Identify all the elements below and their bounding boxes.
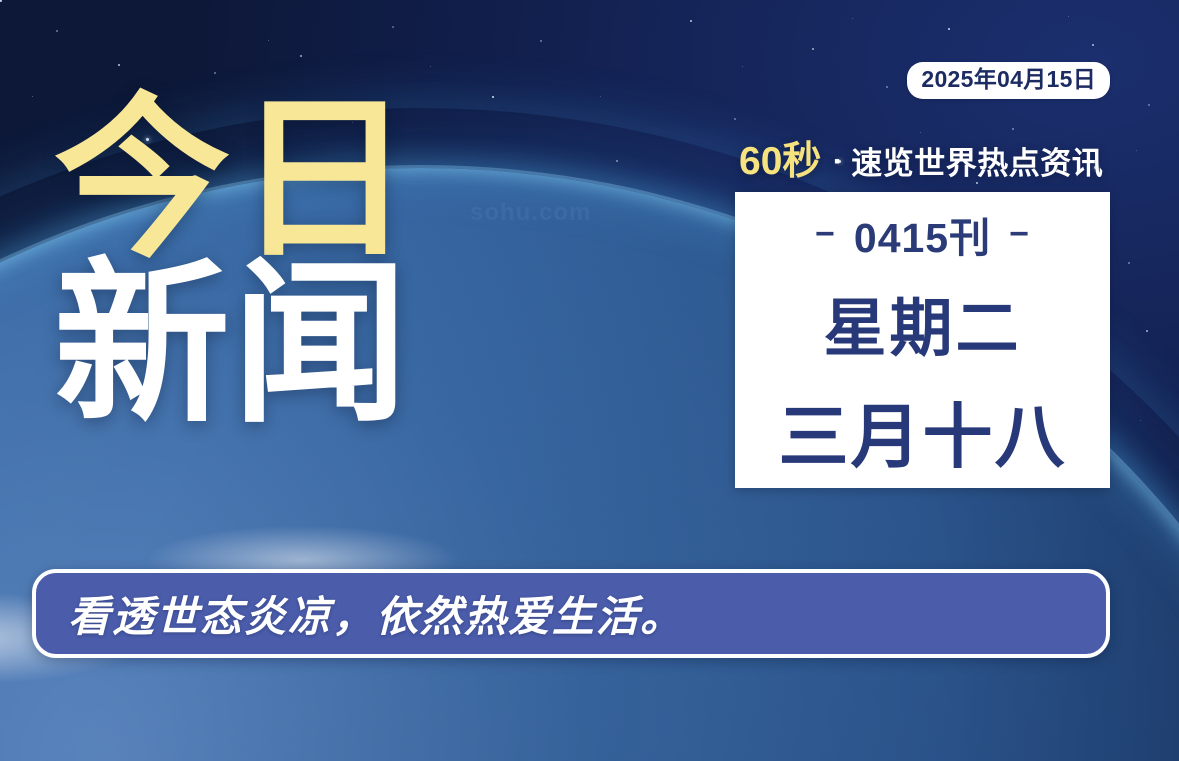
tagline-separator-dot: · [833,145,843,178]
tagline-text: 速览世界热点资讯 [851,146,1103,181]
date-info-card: − 0415刊 − 星期二 三月十八 [735,192,1110,488]
issue-dash-left-icon: − [815,215,836,254]
date-badge: 2025年04月15日 [907,62,1110,99]
page-title-line-1: 今日 [54,96,418,265]
issue-dash-right-icon: − [1009,215,1030,254]
page-title-line-2: 新闻 [54,261,418,430]
issue-number: 0415刊 [854,204,991,264]
page-title: 今日 新闻 [54,96,418,430]
quote-banner: 看透世态炎凉，依然热爱生活。 [32,569,1110,658]
tagline: 60秒 · 速览世界热点资讯 [739,142,1103,181]
quote-text: 看透世态炎凉，依然热爱生活。 [36,583,684,644]
lunar-date-label: 三月十八 [779,381,1067,482]
weekday-label: 星期二 [824,278,1022,369]
tagline-seconds: 60秒 [739,140,821,183]
issue-number-row: − 0415刊 − [815,204,1030,264]
poster-canvas: sohu.com 2025年04月15日 今日 新闻 60秒 · 速览世界热点资… [0,0,1179,761]
